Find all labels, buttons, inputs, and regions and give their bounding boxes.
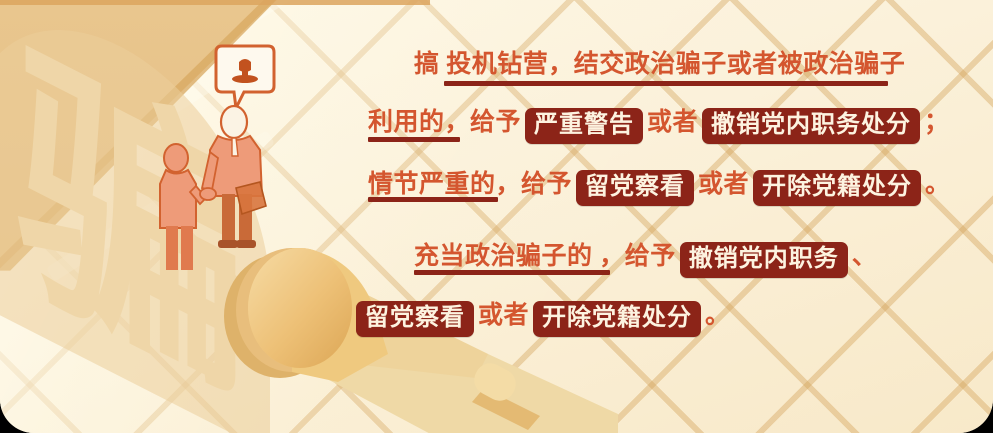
statute-text-run: 情节严重的，给予 xyxy=(368,171,572,198)
statute-text-run: 。 xyxy=(925,171,951,198)
statute-line-4: 充当政治骗子的 ，给予撤销党内职务、 xyxy=(414,240,877,276)
statute-text-run: 或者 xyxy=(698,171,749,198)
penalty-badge[interactable]: 撤销党内职务处分 xyxy=(702,108,920,144)
statute-line-2: 利用的，给予严重警告或者撤销党内职务处分； xyxy=(368,106,950,142)
statute-text-run: 或者 xyxy=(478,302,529,329)
statute-text-run: 、 xyxy=(852,243,878,270)
handshake-person-right xyxy=(202,106,266,248)
wall-top-strip xyxy=(0,0,430,5)
penalty-badge[interactable]: 开除党籍处分 xyxy=(533,301,701,337)
speech-bubble-icon xyxy=(216,46,274,108)
penalty-badge[interactable]: 留党察看 xyxy=(576,170,694,206)
handshake-person-left xyxy=(160,144,206,270)
statute-text-run: 充当政治骗子的 ，给予 xyxy=(414,243,676,270)
statute-line-3: 情节严重的，给予留党察看或者开除党籍处分。 xyxy=(368,168,951,204)
penalty-badge[interactable]: 撤销党内职务 xyxy=(680,242,848,278)
statute-text-run: 搞 投机钻营，结交政治骗子或者被政治骗子 xyxy=(414,51,905,78)
statute-text-run: ； xyxy=(924,109,950,136)
penalty-badge[interactable]: 开除党籍处分 xyxy=(753,170,921,206)
statute-text-run: 利用的，给予 xyxy=(368,109,521,136)
penalty-badge[interactable]: 严重警告 xyxy=(525,108,643,144)
penalty-badge[interactable]: 留党察看 xyxy=(356,301,474,337)
statute-text-run: 或者 xyxy=(647,109,698,136)
statute-line-1: 搞 投机钻营，结交政治骗子或者被政治骗子 xyxy=(414,52,905,77)
handshake-figures-illustration xyxy=(140,40,310,275)
statute-line-5: 留党察看或者开除党籍处分。 xyxy=(352,299,731,335)
poster-canvas: 骗 xyxy=(0,0,993,433)
statute-text-run: 。 xyxy=(705,302,731,329)
